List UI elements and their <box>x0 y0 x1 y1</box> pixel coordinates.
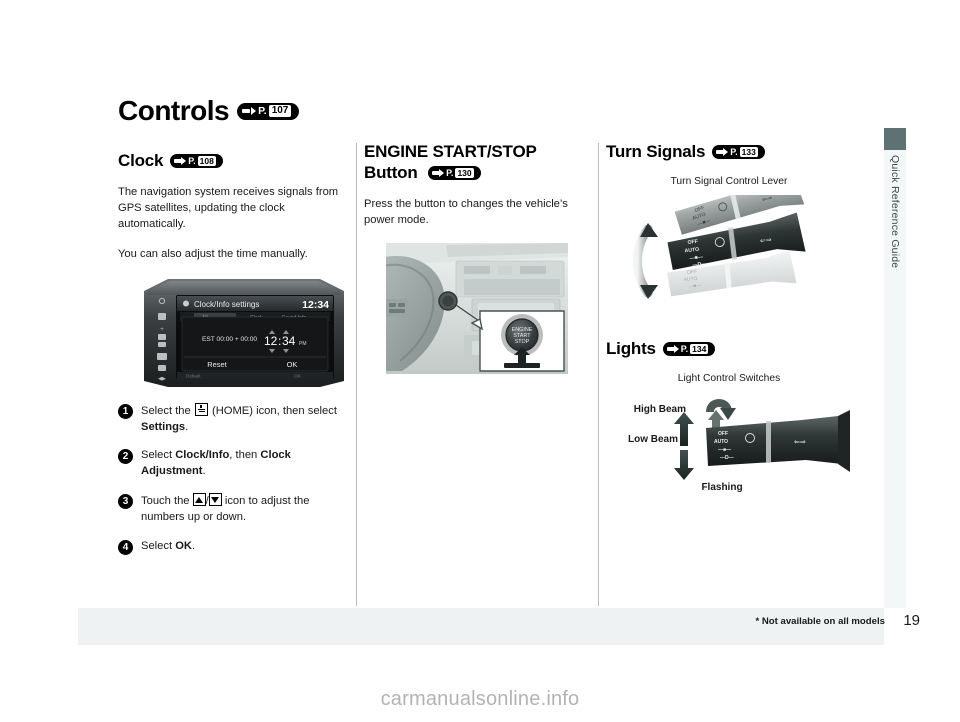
step-text: Select Clock/Info, then Clock Adjustment… <box>141 448 346 480</box>
page-ref-number: 107 <box>269 105 292 117</box>
column-right: Turn Signals P. 133 Turn Signal Control … <box>606 142 852 494</box>
column-divider-2 <box>598 143 599 606</box>
step-item: 3 Touch the / icon to adjust the numbers… <box>118 493 346 526</box>
clock-ref-letter: P. <box>188 156 195 166</box>
step-2-text-middle: , then <box>229 449 257 461</box>
svg-text:OFF: OFF <box>687 269 697 276</box>
lights-ref-letter: P. <box>681 344 688 354</box>
svg-text:—D—: —D— <box>720 455 734 461</box>
page-number: 19 <box>903 612 920 629</box>
nav-ok-button: OK <box>287 360 298 369</box>
step-number: 3 <box>118 494 133 509</box>
nav-header-time: 12:34 <box>302 299 329 311</box>
arrow-right-icon <box>432 169 444 178</box>
nav-footer-right: OK <box>294 373 302 378</box>
section-heading-turn-signals: Turn Signals P. 133 <box>606 142 852 162</box>
lights-reference-badge[interactable]: P. 134 <box>663 342 716 356</box>
svg-text:—■—: —■— <box>688 283 702 290</box>
engine-heading-line-2: Button <box>364 163 418 182</box>
engine-ref-number: 130 <box>455 168 473 178</box>
turn-ref-letter: P. <box>730 147 737 157</box>
step-text: Select OK. <box>141 539 195 555</box>
nav-time-minutes: 34 <box>282 334 296 348</box>
clock-paragraph-2: You can also adjust the time manually. <box>118 247 346 263</box>
high-beam-label: High Beam <box>634 404 686 415</box>
watermark: carmanualsonline.info <box>0 688 960 711</box>
clock-paragraph-1: The navigation system receives signals f… <box>118 185 346 233</box>
arrow-up-icon <box>193 493 206 506</box>
step-2-period: . <box>203 465 206 477</box>
turn-signal-caption: Turn Signal Control Lever <box>606 176 852 187</box>
arrow-right-icon <box>667 345 679 354</box>
svg-text:AUTO: AUTO <box>683 276 697 283</box>
low-beam-label: Low Beam <box>628 434 678 445</box>
step-text: Select the (HOME) icon, then select Sett… <box>141 403 346 436</box>
nav-screen-svg: Clock/Info settings 12:34 All Clock Soun… <box>142 277 346 389</box>
svg-text:OFF: OFF <box>718 431 728 437</box>
step-item: 4 Select OK. <box>118 539 346 555</box>
step-2-text-before: Select <box>141 449 172 461</box>
arrow-right-icon <box>174 157 186 166</box>
page-ref-letter: P. <box>258 105 267 117</box>
step-item: 1 Select the (HOME) icon, then select Se… <box>118 403 346 436</box>
sidebar-chapter-label-text: Quick Reference Guide <box>889 155 901 268</box>
engine-paragraph-1: Press the button to changes the vehicle’… <box>364 197 586 229</box>
lights-heading-text: Lights <box>606 339 656 359</box>
flashing-label: Flashing <box>701 482 742 493</box>
start-stop-label-3: STOP <box>515 339 530 345</box>
clock-reference-badge[interactable]: P. 108 <box>170 154 223 168</box>
page-reference-badge[interactable]: P. 107 <box>237 103 299 120</box>
svg-text:OFF: OFF <box>687 239 698 246</box>
svg-text:◀▶: ◀▶ <box>158 376 166 382</box>
dashboard-start-stop-illustration: ENGINE START STOP <box>386 243 568 374</box>
lights-ref-number: 134 <box>690 344 708 354</box>
manual-page: Quick Reference Guide Controls P. 107 Cl… <box>0 0 960 722</box>
svg-text:⇐⇒: ⇐⇒ <box>760 237 773 245</box>
clock-steps-list: 1 Select the (HOME) icon, then select Se… <box>118 403 346 555</box>
light-control-switch-illustration: High Beam Low Beam Flashing <box>606 390 850 494</box>
step-2-bold-1: Clock/Info <box>175 449 229 461</box>
svg-text:AUTO: AUTO <box>714 439 728 445</box>
home-icon <box>195 403 208 416</box>
step-3-text-before: Touch the <box>141 495 190 507</box>
section-heading-clock: Clock P. 108 <box>118 151 346 171</box>
step-number: 4 <box>118 540 133 555</box>
step-text: Touch the / icon to adjust the numbers u… <box>141 493 346 526</box>
flashing-arrow-icon <box>674 450 694 480</box>
section-heading-engine-start-stop: ENGINE START/STOP Button P. 130 <box>364 142 586 183</box>
step-number: 2 <box>118 449 133 464</box>
step-item: 2 Select Clock/Info, then Clock Adjustme… <box>118 448 346 480</box>
nav-reset-button: Reset <box>207 360 228 369</box>
navigation-screen-illustration: Clock/Info settings 12:34 All Clock Soun… <box>142 277 346 389</box>
svg-text:—■—: —■— <box>718 447 731 453</box>
svg-text:⇐⇒: ⇐⇒ <box>794 439 806 446</box>
dash-svg: ENGINE START STOP <box>386 243 568 374</box>
clock-ref-number: 108 <box>198 156 216 166</box>
step-number: 1 <box>118 404 133 419</box>
step-1-text-before: Select the <box>141 405 191 417</box>
section-heading-clock-text: Clock <box>118 151 163 171</box>
turn-signal-lever-illustration: OFF AUTO —■— ⇐⇒ OFF AUTO <box>626 195 826 323</box>
turn-signals-reference-badge[interactable]: P. 133 <box>712 145 765 159</box>
column-middle: ENGINE START/STOP Button P. 130 Press th… <box>364 142 586 374</box>
engine-heading-line-1: ENGINE START/STOP <box>364 142 537 161</box>
arrow-right-icon <box>716 148 728 157</box>
arrow-right-icon <box>242 106 256 117</box>
page-title-text: Controls <box>118 95 229 127</box>
nav-time-hours: 12 <box>264 334 278 348</box>
nav-timezone-value: EST 00:00 + 00:00 <box>202 336 257 343</box>
page-title: Controls P. 107 <box>118 95 346 127</box>
nav-time-sep: : <box>278 334 281 348</box>
nav-time-meridiem: PM <box>299 341 307 347</box>
step-1-text-after: (HOME) icon, then select <box>212 405 337 417</box>
sidebar-chapter-label: Quick Reference Guide <box>884 155 906 355</box>
engine-reference-badge[interactable]: P. 130 <box>428 166 481 180</box>
turn-lever-svg: OFF AUTO —■— ⇐⇒ OFF AUTO <box>626 195 826 323</box>
column-left: Controls P. 107 Clock P. 108 The navigat… <box>118 95 346 568</box>
sidebar-tab-cap <box>884 128 906 150</box>
lights-svg: High Beam Low Beam Flashing <box>606 390 850 494</box>
step-4-period: . <box>192 540 195 552</box>
step-1-period: . <box>185 421 188 433</box>
engine-ref-letter: P. <box>446 168 453 179</box>
footer-note: * Not available on all models <box>755 616 885 627</box>
column-divider-1 <box>356 143 357 606</box>
nav-footer-left: Default <box>186 373 201 378</box>
arrow-down-icon <box>209 493 222 506</box>
nav-header-title: Clock/Info settings <box>194 300 259 309</box>
svg-text:+: + <box>160 327 164 333</box>
rotation-arrow-icon <box>638 223 659 299</box>
lights-caption: Light Control Switches <box>606 373 852 384</box>
turn-ref-number: 133 <box>740 147 758 157</box>
turn-signals-heading-text: Turn Signals <box>606 142 705 162</box>
section-heading-lights: Lights P. 134 <box>606 339 852 359</box>
step-4-text-before: Select <box>141 540 172 552</box>
step-4-bold-1: OK <box>175 540 192 552</box>
step-1-bold-tail: Settings <box>141 421 185 433</box>
